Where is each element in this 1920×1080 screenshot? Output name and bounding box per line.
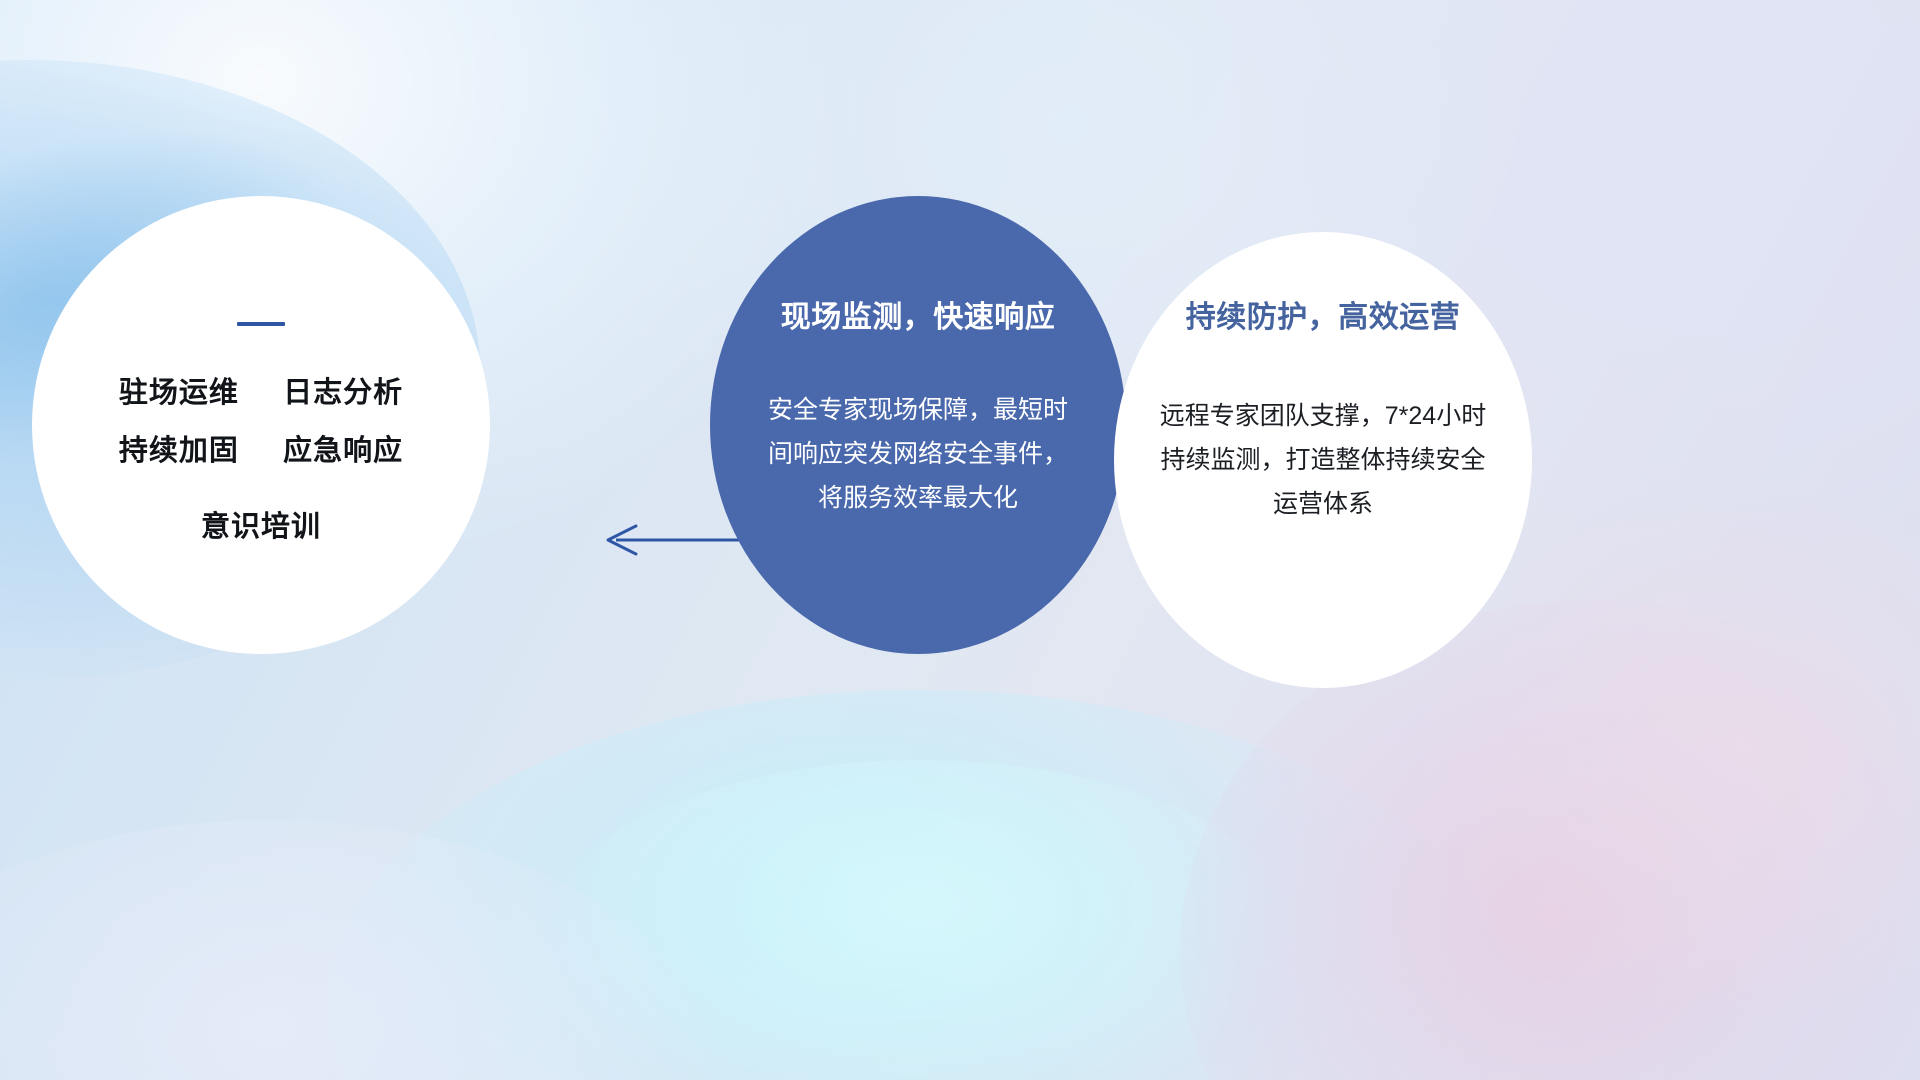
card-body: 安全专家现场保障，最短时间响应突发网络安全事件，将服务效率最大化 (768, 388, 1068, 520)
capability-label: 日志分析 (283, 377, 403, 409)
capability-label: 应急响应 (283, 435, 403, 467)
divider-rule-icon (237, 322, 285, 326)
card-right-continuous-protection[interactable]: 持续防护，高效运营 远程专家团队支撑，7*24小时持续监测，打造整体持续安全运营… (1114, 232, 1532, 688)
card-left-capabilities[interactable]: 驻场运维 日志分析 持续加固 应急响应 意识培训 (32, 196, 490, 654)
card-body: 远程专家团队支撑，7*24小时持续监测，打造整体持续安全运营体系 (1158, 394, 1488, 526)
capability-label: 持续加固 (119, 435, 239, 467)
card-title: 现场监测，快速响应 (781, 300, 1056, 336)
list-item: 驻场运维 日志分析 (119, 364, 403, 422)
capability-label: 驻场运维 (119, 377, 239, 409)
card-middle-onsite-monitoring[interactable]: 现场监测，快速响应 安全专家现场保障，最短时间响应突发网络安全事件，将服务效率最… (710, 196, 1126, 654)
list-item: 持续加固 应急响应 (119, 422, 403, 480)
card-title: 持续防护，高效运营 (1186, 300, 1461, 336)
list-item: 意识培训 (119, 498, 403, 556)
capability-list: 驻场运维 日志分析 持续加固 应急响应 意识培训 (119, 364, 403, 556)
slide-canvas: 驻场运维 日志分析 持续加固 应急响应 意识培训 现场监测，快速响应 安全专家现… (0, 0, 1920, 1080)
